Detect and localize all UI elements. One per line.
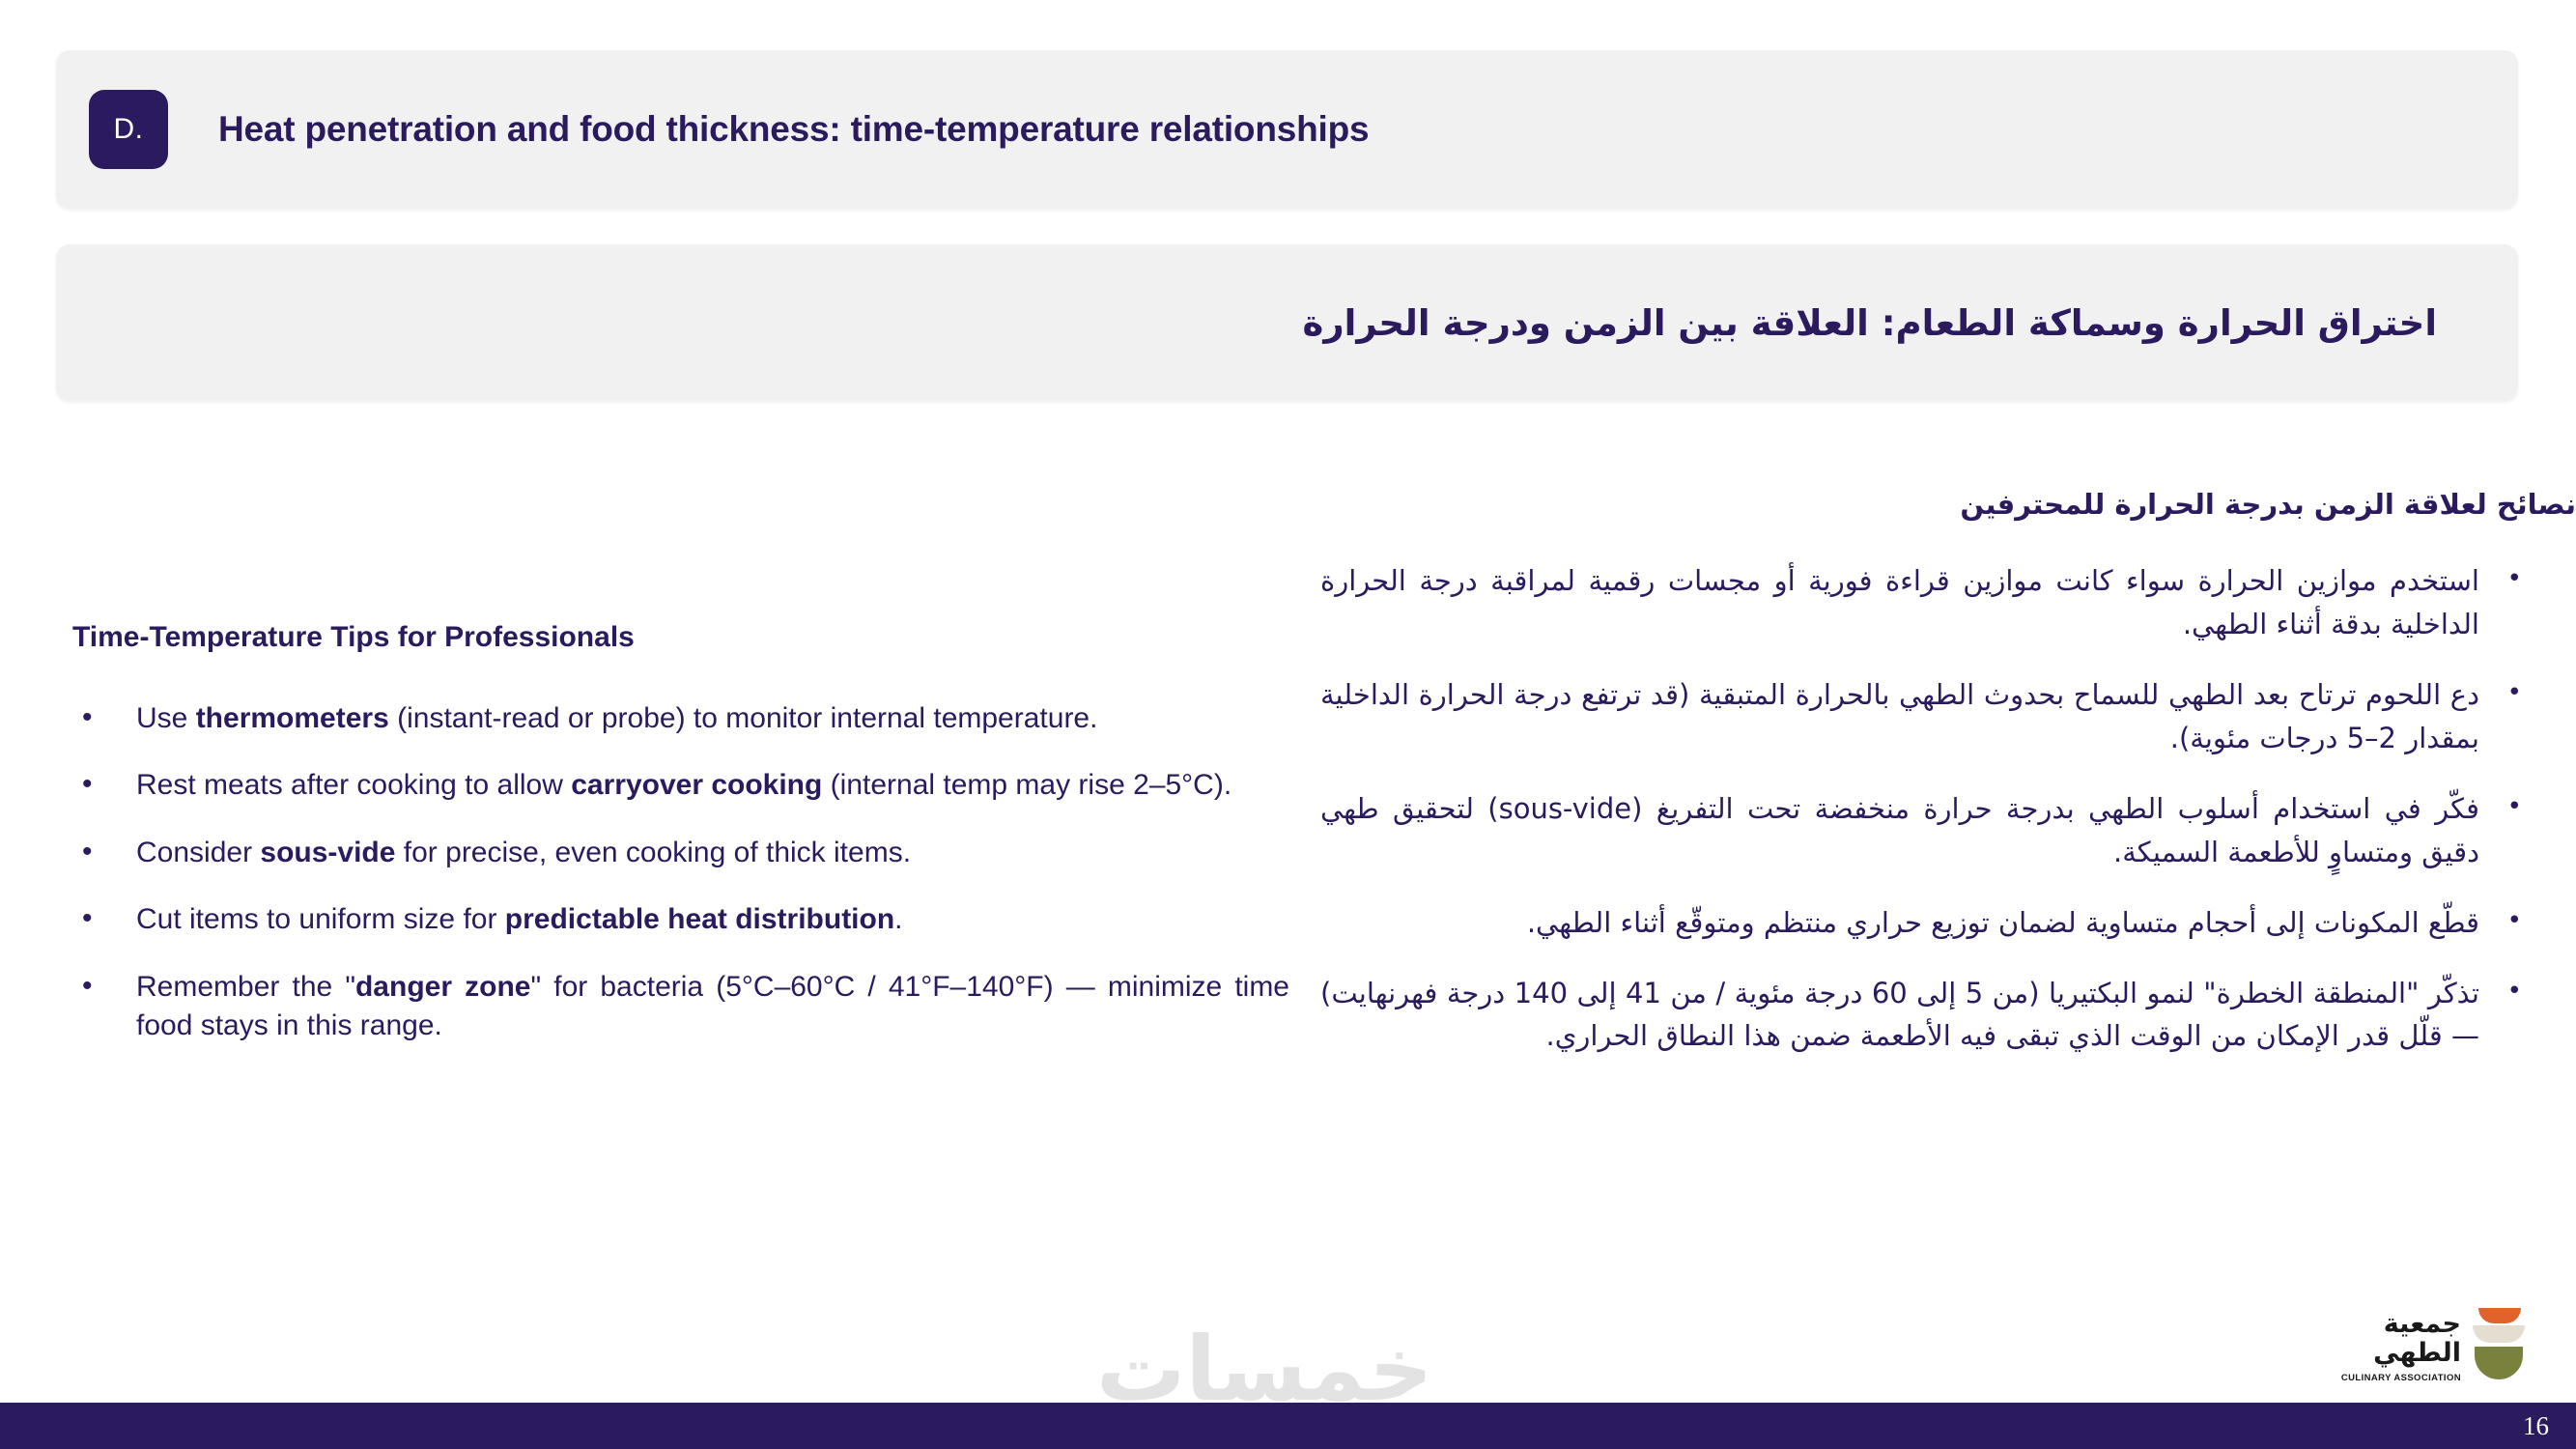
page-number: 16 — [2523, 1411, 2549, 1441]
bullet-marker-icon: • — [2507, 972, 2522, 1010]
logo-english-name: CULINARY ASSOCIATION — [2341, 1373, 2461, 1383]
bullet-marker-icon: • — [2507, 673, 2522, 712]
content-area: Time-Temperature Tips for Professionals … — [0, 483, 2576, 1294]
arabic-bullet-text: استخدم موازين الحرارة سواء كانت موازين ق… — [1320, 564, 2479, 640]
logo-wordmark: جمعية الطهي CULINARY ASSOCIATION — [2337, 1310, 2461, 1382]
english-column-heading: Time-Temperature Tips for Professionals — [72, 618, 1289, 657]
arabic-column-heading: نصائح لعلاقة الزمن بدرجة الحرارة للمحترف… — [1320, 483, 2576, 526]
english-bullet-text: Consider sous-vide for precise, even coo… — [136, 837, 911, 868]
arabic-title-banner: اختراق الحرارة وسماكة الطعام: العلاقة بي… — [56, 244, 2518, 401]
arabic-bullet-item: •استخدم موازين الحرارة سواء كانت موازين … — [1320, 559, 2522, 646]
arabic-bullet-list: •استخدم موازين الحرارة سواء كانت موازين … — [1320, 559, 2576, 1058]
bullet-marker-icon: • — [82, 698, 93, 737]
arabic-bullet-item: •فكّر في استخدام أسلوب الطهي بدرجة حرارة… — [1320, 787, 2522, 874]
bowl-icon-bottom-layer — [2475, 1347, 2523, 1379]
arabic-bullet-text: قطّع المكونات إلى أحجام متساوية لضمان تو… — [1527, 906, 2479, 939]
english-bullet-text: Rest meats after cooking to allow carryo… — [136, 769, 1231, 801]
english-bullet-text: Remember the "danger zone" for bacteria … — [136, 971, 1289, 1041]
arabic-bullet-item: •قطّع المكونات إلى أحجام متساوية لضمان ت… — [1320, 901, 2522, 945]
bowl-icon — [2471, 1304, 2527, 1389]
bowl-icon-middle-layer — [2473, 1325, 2525, 1343]
page-title: Heat penetration and food thickness: tim… — [218, 109, 1369, 150]
english-bullet-item: •Remember the "danger zone" for bacteria… — [72, 968, 1289, 1044]
logo-arabic-line-2: الطهي — [2373, 1339, 2461, 1368]
english-tips-column: Time-Temperature Tips for Professionals … — [72, 618, 1289, 1073]
arabic-tips-column: نصائح لعلاقة الزمن بدرجة الحرارة للمحترف… — [1320, 483, 2576, 1085]
khamsat-watermark: خمسات — [1096, 1325, 1433, 1414]
bullet-marker-icon: • — [82, 899, 93, 938]
bowl-icon-top-layer — [2478, 1308, 2521, 1323]
bullet-marker-icon: • — [82, 833, 93, 871]
bullet-marker-icon: • — [82, 967, 93, 1006]
bullet-marker-icon: • — [2507, 559, 2522, 598]
section-header-card: D. Heat penetration and food thickness: … — [56, 50, 2518, 209]
arabic-bullet-item: •دع اللحوم ترتاح بعد الطهي للسماح بحدوث … — [1320, 673, 2522, 760]
culinary-association-logo: جمعية الطهي CULINARY ASSOCIATION — [2337, 1294, 2531, 1399]
bullet-marker-icon: • — [2507, 901, 2522, 940]
bullet-marker-icon: • — [82, 765, 93, 804]
english-bullet-text: Cut items to uniform size for predictabl… — [136, 903, 903, 935]
english-bullet-list: •Use thermometers (instant-read or probe… — [72, 699, 1289, 1045]
english-bullet-item: •Rest meats after cooking to allow carry… — [72, 766, 1289, 805]
english-bullet-text: Use thermometers (instant-read or probe)… — [136, 702, 1097, 734]
bullet-marker-icon: • — [2507, 787, 2522, 826]
english-bullet-item: •Cut items to uniform size for predictab… — [72, 900, 1289, 939]
section-letter-badge: D. — [89, 90, 168, 169]
english-bullet-item: •Consider sous-vide for precise, even co… — [72, 834, 1289, 872]
english-bullet-item: •Use thermometers (instant-read or probe… — [72, 699, 1289, 738]
logo-arabic-line-1: جمعية — [2384, 1310, 2461, 1339]
footer-bar: 16 — [0, 1403, 2576, 1449]
arabic-bullet-text: تذكّر "المنطقة الخطرة" لنمو البكتيريا (م… — [1320, 977, 2479, 1053]
arabic-bullet-item: •تذكّر "المنطقة الخطرة" لنمو البكتيريا (… — [1320, 972, 2522, 1059]
arabic-page-title: اختراق الحرارة وسماكة الطعام: العلاقة بي… — [1303, 302, 2519, 344]
arabic-bullet-text: دع اللحوم ترتاح بعد الطهي للسماح بحدوث ا… — [1320, 678, 2479, 754]
arabic-bullet-text: فكّر في استخدام أسلوب الطهي بدرجة حرارة … — [1320, 792, 2479, 868]
